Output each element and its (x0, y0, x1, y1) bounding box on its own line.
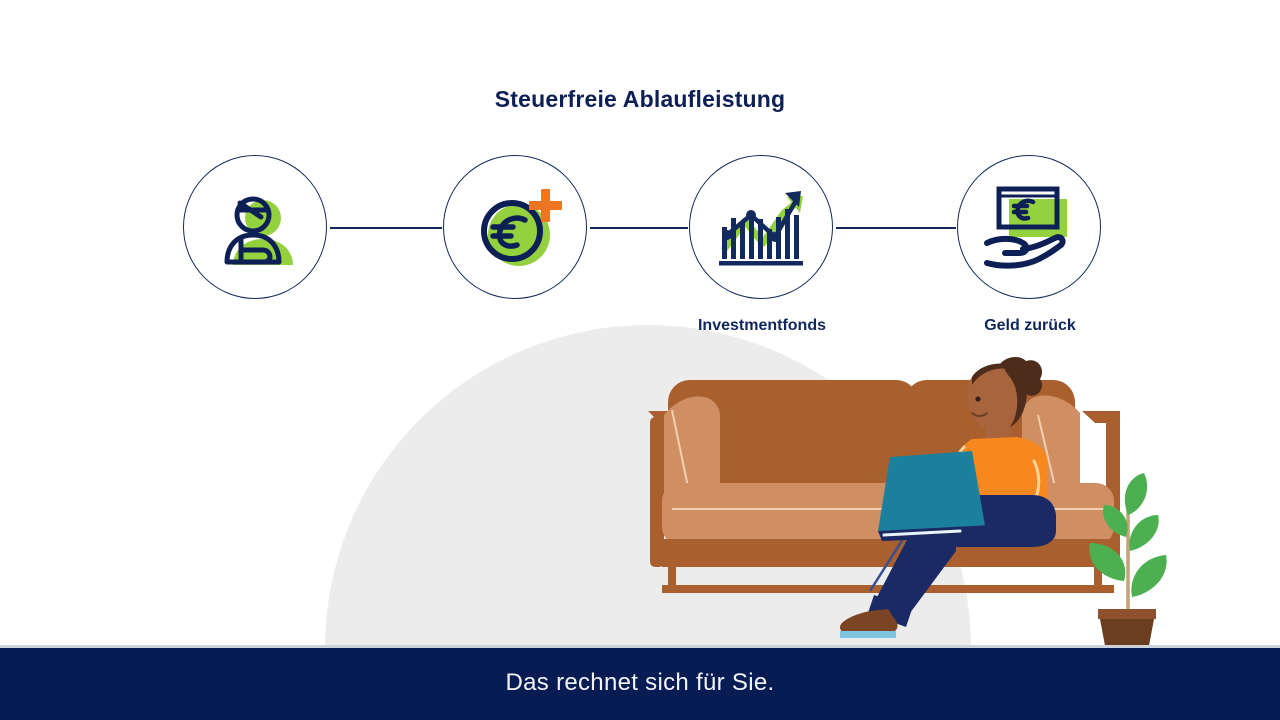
euro-coin-plus-icon (443, 155, 587, 299)
connector-line-1 (330, 227, 442, 229)
illustration-woman-on-couch (620, 355, 1240, 655)
caption-bar: Das rechnet sich für Sie. (0, 648, 1280, 720)
process-step-euro-plus[interactable] (443, 155, 589, 301)
couch (648, 380, 1120, 593)
hand-money-icon (957, 155, 1101, 299)
connector-line-2 (590, 227, 688, 229)
process-step-geld-zurueck[interactable]: Geld zurück (957, 155, 1103, 301)
process-step-injured-person[interactable] (183, 155, 329, 301)
process-flow: Investmentfonds Geld zurück (0, 150, 1280, 360)
growth-chart-icon (689, 155, 833, 299)
caption-text: Das rechnet sich für Sie. (0, 669, 1280, 697)
process-step-label-geld-zurueck: Geld zurück (917, 317, 1143, 335)
page-title: Steuerfreie Ablaufleistung (0, 86, 1280, 113)
process-step-label-investmentfonds: Investmentfonds (649, 317, 875, 335)
process-step-investmentfonds[interactable]: Investmentfonds (689, 155, 835, 301)
slide-canvas: Steuerfreie Ablaufleistung (0, 0, 1280, 720)
injured-person-icon (183, 155, 327, 299)
connector-line-3 (836, 227, 956, 229)
